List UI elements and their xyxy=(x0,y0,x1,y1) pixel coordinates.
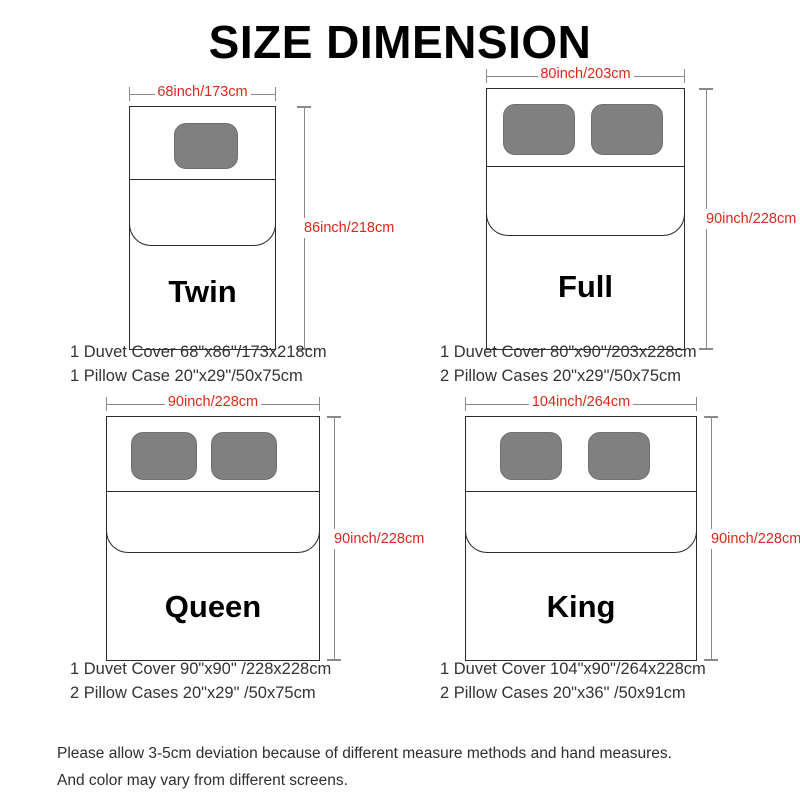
twin-pillow-1 xyxy=(174,123,238,169)
full-bed-name: Full xyxy=(487,269,684,305)
dimension-cap-right xyxy=(684,69,685,83)
queen-width-label: 90inch/228cm xyxy=(165,394,261,410)
twin-caption: 1 Duvet Cover 68"x86"/173x218cm 1 Pillow… xyxy=(70,341,327,389)
king-pillow-1 xyxy=(500,432,562,480)
twin-caption-line-1: 1 Duvet Cover 68"x86"/173x218cm xyxy=(70,341,327,365)
king-caption-line-2: 2 Pillow Cases 20"x36" /50x91cm xyxy=(440,682,706,706)
full-pillow-1 xyxy=(503,104,575,155)
dimension-cap-left xyxy=(465,397,466,411)
twin-bed-name: Twin xyxy=(130,274,275,310)
twin-bed-outline: Twin xyxy=(129,106,276,350)
dimension-cap-left xyxy=(129,87,130,101)
queen-caption-line-2: 2 Pillow Cases 20"x29" /50x75cm xyxy=(70,682,331,706)
twin-height-label: 86inch/218cm xyxy=(302,218,396,238)
full-caption-line-1: 1 Duvet Cover 80"x90"/203x228cm xyxy=(440,341,697,365)
size-dimension-chart: SIZE DIMENSION 68inch/173cm Twin 86inch/… xyxy=(0,0,800,800)
dimension-cap-bottom xyxy=(704,659,718,661)
queen-bed-name: Queen xyxy=(107,589,319,625)
dimension-cap-left xyxy=(106,397,107,411)
dimension-cap-top xyxy=(699,88,713,90)
full-caption-line-2: 2 Pillow Cases 20"x29"/50x75cm xyxy=(440,365,697,389)
twin-caption-line-2: 1 Pillow Case 20"x29"/50x75cm xyxy=(70,365,327,389)
king-pillow-2 xyxy=(588,432,650,480)
queen-pillow-2 xyxy=(211,432,277,480)
king-caption: 1 Duvet Cover 104"x90"/264x228cm 2 Pillo… xyxy=(440,658,706,706)
king-width-label: 104inch/264cm xyxy=(529,394,633,410)
queen-caption-line-1: 1 Duvet Cover 90"x90" /228x228cm xyxy=(70,658,331,682)
dimension-cap-top xyxy=(704,416,718,418)
full-pillow-2 xyxy=(591,104,663,155)
king-width-dimension: 104inch/264cm xyxy=(465,396,697,412)
twin-height-dimension: 86inch/218cm xyxy=(296,106,312,350)
full-caption: 1 Duvet Cover 80"x90"/203x228cm 2 Pillow… xyxy=(440,341,697,389)
full-height-dimension: 90inch/228cm xyxy=(698,88,714,350)
disclaimer-note: Please allow 3-5cm deviation because of … xyxy=(57,740,757,794)
disclaimer-line-2: And color may vary from different screen… xyxy=(57,767,757,794)
dimension-cap-left xyxy=(486,69,487,83)
king-sheet-flap xyxy=(465,491,697,553)
king-height-dimension: 90inch/228cm xyxy=(703,416,719,661)
king-bed-name: King xyxy=(466,589,696,625)
full-width-dimension: 80inch/203cm xyxy=(486,68,685,84)
dimension-cap-top xyxy=(327,416,341,418)
dimension-cap-right xyxy=(275,87,276,101)
queen-width-dimension: 90inch/228cm xyxy=(106,396,320,412)
disclaimer-line-1: Please allow 3-5cm deviation because of … xyxy=(57,740,757,767)
king-height-label: 90inch/228cm xyxy=(709,529,800,549)
queen-height-label: 90inch/228cm xyxy=(332,529,426,549)
twin-sheet-flap xyxy=(129,179,276,246)
dimension-cap-right xyxy=(319,397,320,411)
queen-caption: 1 Duvet Cover 90"x90" /228x228cm 2 Pillo… xyxy=(70,658,331,706)
king-caption-line-1: 1 Duvet Cover 104"x90"/264x228cm xyxy=(440,658,706,682)
full-sheet-flap xyxy=(486,166,685,236)
page-title: SIZE DIMENSION xyxy=(0,18,800,66)
queen-height-dimension: 90inch/228cm xyxy=(326,416,342,661)
queen-bed-outline: Queen xyxy=(106,416,320,661)
dimension-cap-right xyxy=(696,397,697,411)
dimension-cap-bottom xyxy=(699,348,713,350)
twin-width-label: 68inch/173cm xyxy=(154,84,250,100)
queen-sheet-flap xyxy=(106,491,320,553)
full-width-label: 80inch/203cm xyxy=(537,66,633,82)
dimension-cap-top xyxy=(297,106,311,108)
full-bed-outline: Full xyxy=(486,88,685,350)
twin-width-dimension: 68inch/173cm xyxy=(129,86,276,102)
full-height-label: 90inch/228cm xyxy=(704,209,798,229)
king-bed-outline: King xyxy=(465,416,697,661)
queen-pillow-1 xyxy=(131,432,197,480)
